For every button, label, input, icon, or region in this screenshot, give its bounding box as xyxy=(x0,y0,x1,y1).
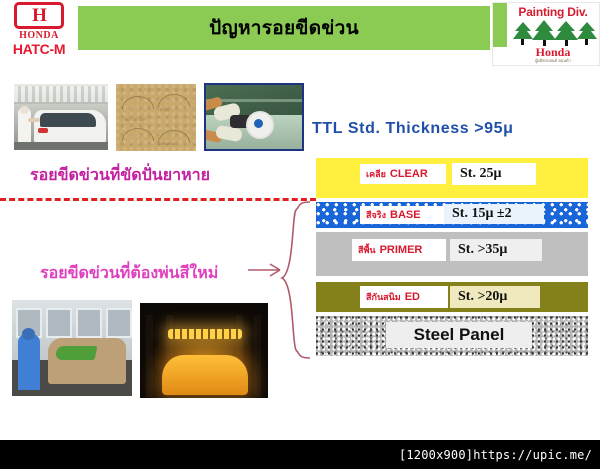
masked-car-body xyxy=(48,338,126,384)
layer-label-ed: สีกันสนิม ED xyxy=(360,286,448,308)
footer-dimensions: [1200x900] xyxy=(399,448,473,462)
honda-h-mark-icon: H xyxy=(14,2,64,29)
honda-h-letter: H xyxy=(32,6,46,25)
honda-logo: H HONDA HATC-M xyxy=(2,2,76,57)
inspector-head xyxy=(20,106,29,114)
car-taillight xyxy=(38,128,48,133)
painter-head xyxy=(22,328,35,340)
oven-support-post xyxy=(146,315,153,397)
layer-label-primer: สีพื้น PRIMER xyxy=(352,239,446,261)
pine-tree-icon xyxy=(511,20,597,46)
layer-value-base: St. 15μ ±2 xyxy=(444,204,544,224)
car-in-oven xyxy=(162,355,248,395)
polishing-photo xyxy=(204,83,304,151)
layer-label-clear-th: เคลีย xyxy=(366,167,386,181)
car-inspection-booth-photo xyxy=(14,84,108,150)
oven-support-post xyxy=(254,315,261,397)
layer-value-primer: St. >35μ xyxy=(450,239,542,261)
layer-label-ed-th: สีกันสนิม xyxy=(366,290,401,304)
green-accent-bar xyxy=(493,3,507,47)
slide-root: H HONDA HATC-M ปัญหารอยขีดข่วน Painting … xyxy=(0,0,600,469)
layer-label-ed-en: ED xyxy=(405,291,420,303)
repaint-scope-brace xyxy=(278,200,312,360)
caption-polish-fix: รอยขีดข่วนที่ขัดปั่นยาหาย xyxy=(30,163,210,188)
shop-window xyxy=(106,308,132,338)
sandpaper-print: P1500 xyxy=(160,108,170,112)
caption-repaint-needed: รอยขีดข่วนที่ต้องพ่นสีใหม่ xyxy=(40,261,218,286)
division-subtitle: ผู้ผลิตรถยนต์ ฮอนด้า xyxy=(507,57,599,64)
steel-panel-label: Steel Panel xyxy=(386,322,532,348)
layer-value-ed: St. >20μ xyxy=(450,286,540,308)
footer-watermark-bar: [1200x900] https://upic.me/ xyxy=(0,440,600,469)
exposed-green-hood xyxy=(55,346,98,360)
layer-label-clear-en: CLEAR xyxy=(390,168,428,180)
masked-car-photo xyxy=(12,300,132,396)
layer-label-base-th: สีจริง xyxy=(366,208,386,222)
layer-label-base-en: BASE xyxy=(390,209,421,221)
painter-body xyxy=(18,334,40,390)
oven-lamp-array xyxy=(168,329,242,339)
honda-wordmark: HONDA xyxy=(19,30,59,41)
total-thickness-spec: TTL Std. Thickness >95μ xyxy=(312,120,514,138)
red-dashed-divider xyxy=(0,198,316,201)
division-title: Painting Div. xyxy=(507,5,599,19)
layer-value-clear: St. 25μ xyxy=(452,163,536,185)
paint-oven-photo xyxy=(140,303,268,398)
polishing-pad-hub xyxy=(254,119,263,128)
slide-title-bar: ปัญหารอยขีดข่วน xyxy=(78,6,490,50)
layer-label-base: สีจริง BASE xyxy=(360,206,446,224)
page-title: ปัญหารอยขีดข่วน xyxy=(209,13,359,43)
sandpaper-print: WET OR DRY xyxy=(124,118,146,122)
sandpaper-print: ABRASIVE xyxy=(158,142,176,146)
inspector-arm xyxy=(28,118,40,122)
shop-window xyxy=(46,308,72,338)
car-rear-window xyxy=(40,113,96,127)
honda-model-code: HATC-M xyxy=(13,41,65,57)
booth-light-strips xyxy=(14,86,108,102)
booth-floor xyxy=(14,142,108,150)
sandpaper-photo: P1500 WET OR DRY ABRASIVE xyxy=(116,84,196,151)
shop-window xyxy=(76,308,102,338)
layer-label-clear: เคลีย CLEAR xyxy=(360,164,446,184)
layer-label-primer-en: PRIMER xyxy=(380,244,423,256)
painting-division-logo: Painting Div. Honda ผู้ผลิตรถยนต์ ฮอนด้า xyxy=(492,2,600,66)
footer-url[interactable]: https://upic.me/ xyxy=(473,448,592,462)
layer-label-primer-th: สีพื้น xyxy=(358,243,376,257)
